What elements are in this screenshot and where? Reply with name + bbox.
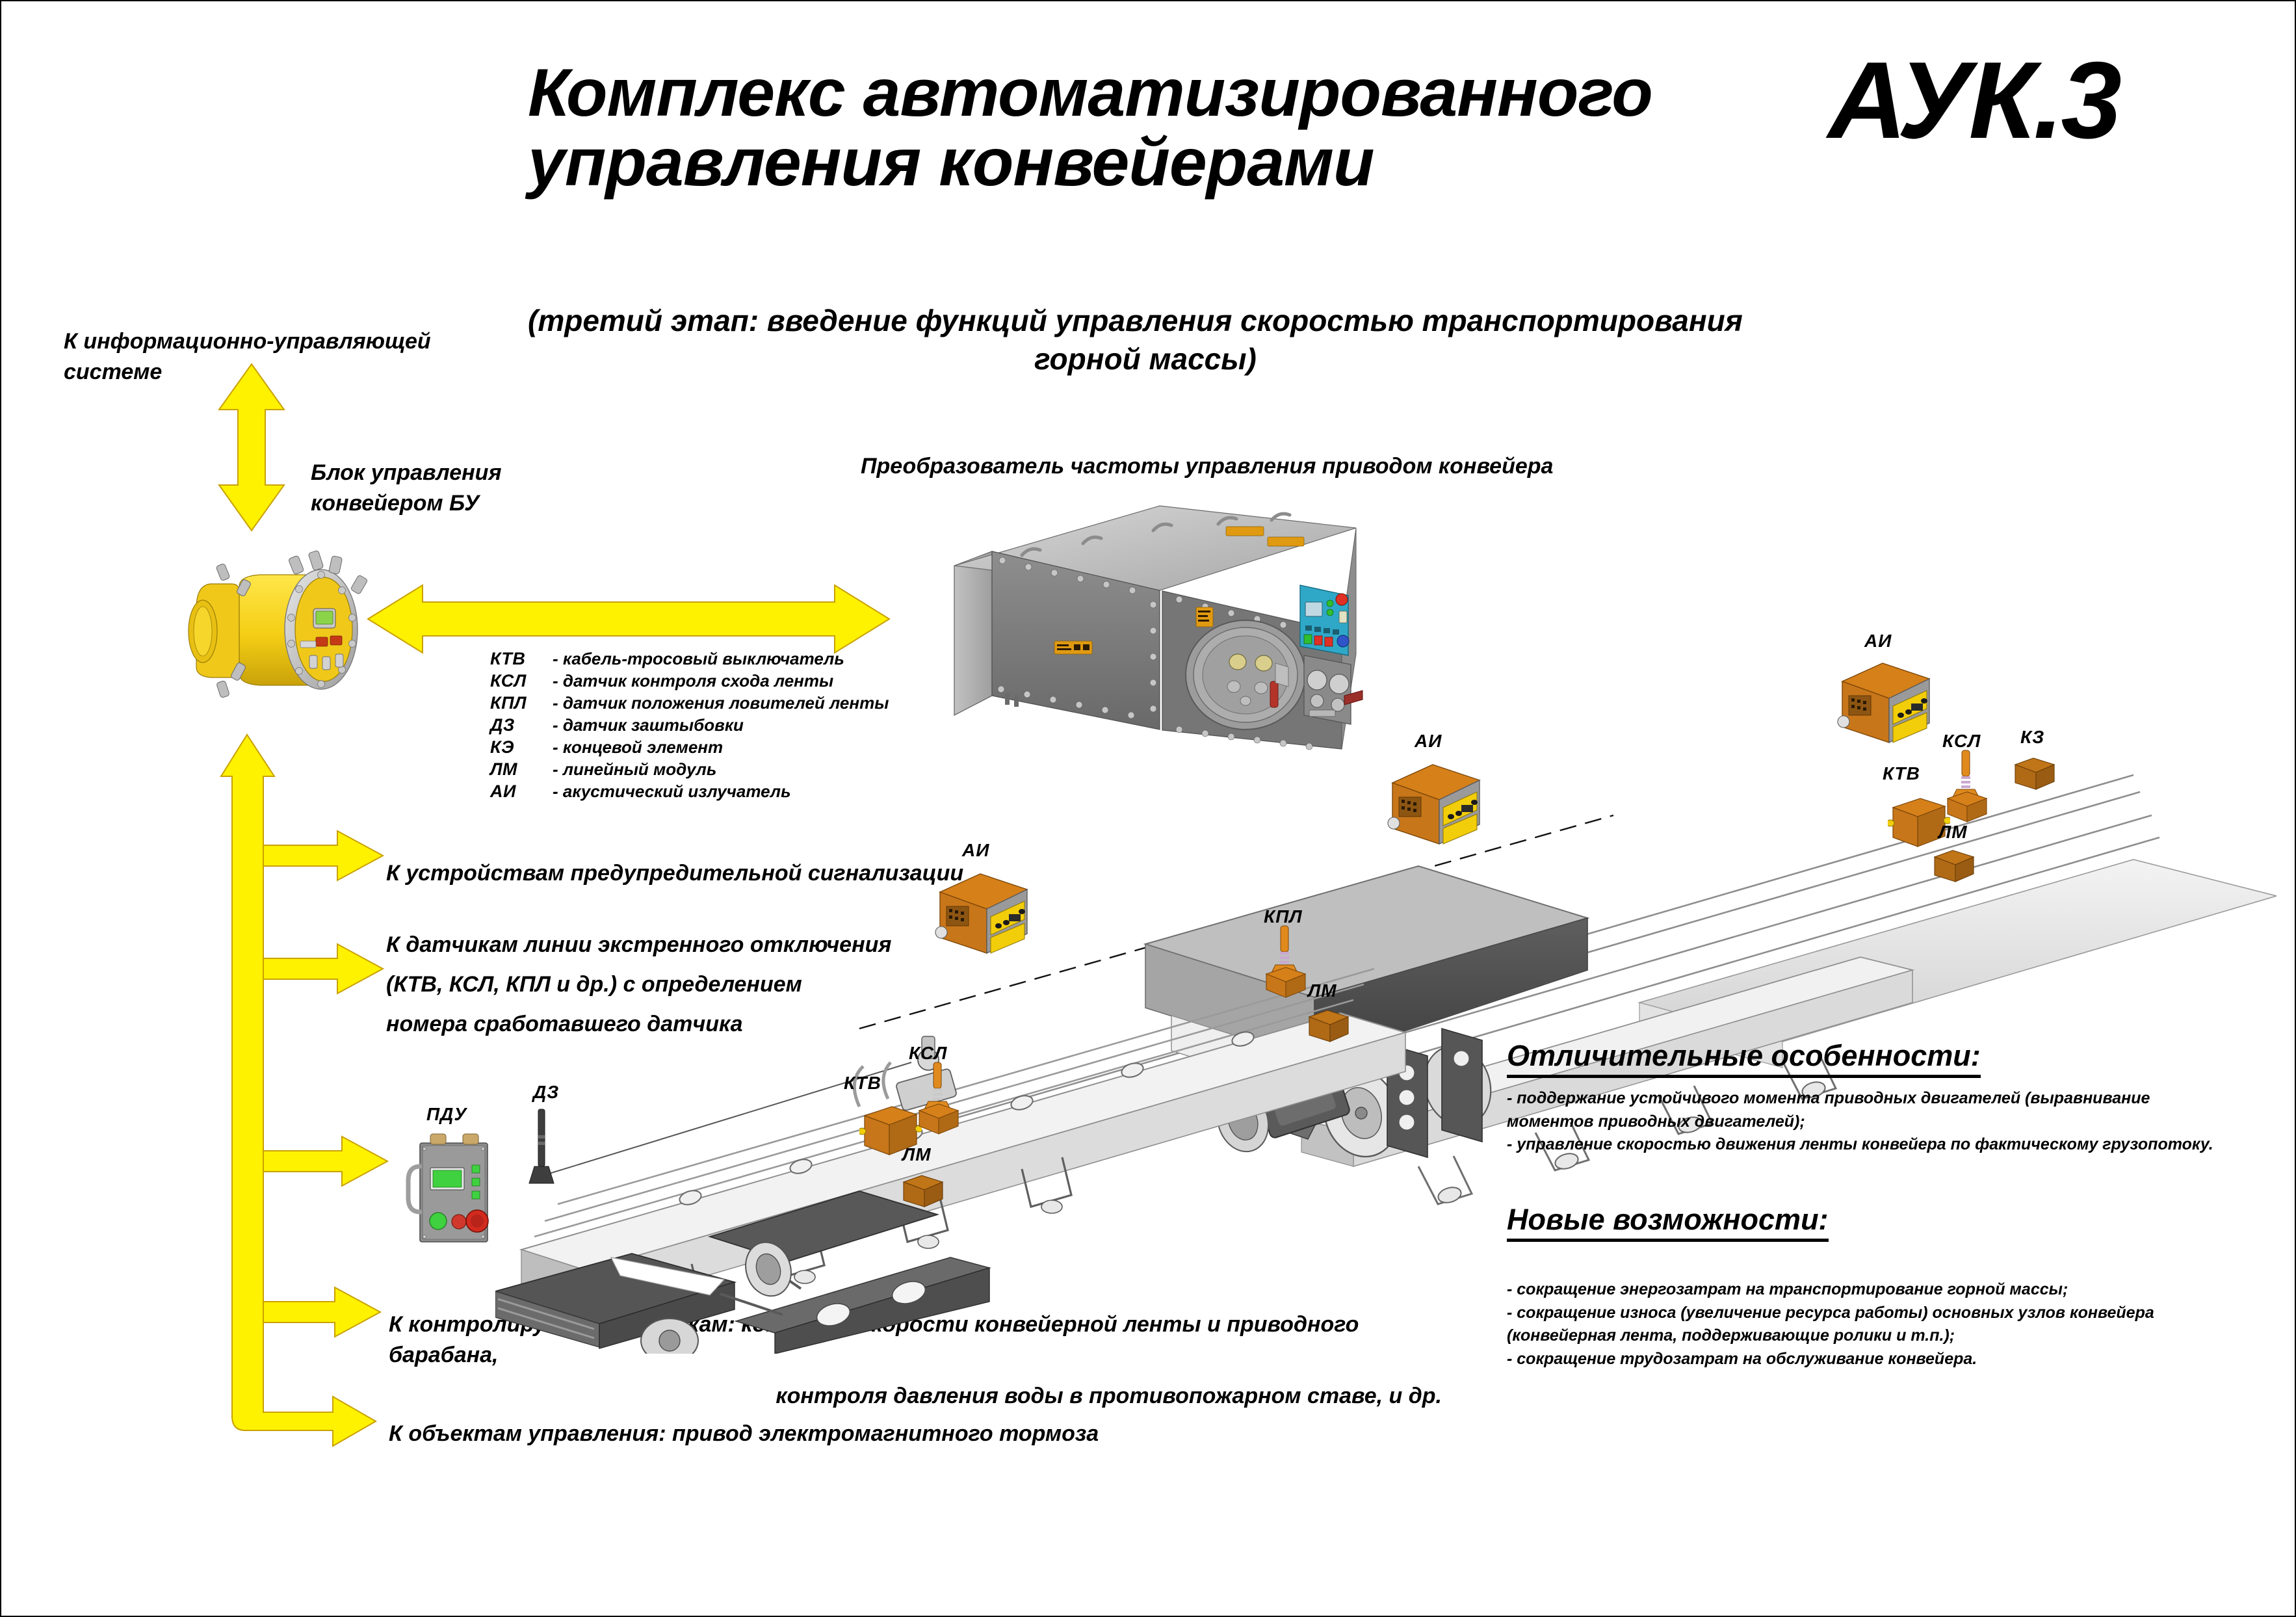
- features-item: - поддержание устойчивого момента привод…: [1507, 1087, 2213, 1111]
- acoustic-emitter-device-3: [1833, 655, 1937, 753]
- new-capabilities-panel: Новые возможности: - сокращение энергоза…: [1507, 1203, 2154, 1371]
- features-item: - управление скоростью движения ленты ко…: [1507, 1133, 2213, 1157]
- product-abbreviation: АУК.3: [1828, 46, 2283, 155]
- new-capabilities-heading: Новые возможности:: [1507, 1203, 1829, 1242]
- new-capabilities-item: (конвейерная лента, поддерживающие ролик…: [1507, 1324, 2154, 1348]
- kpl-belt-catcher-position-sensor: [1260, 925, 1312, 1003]
- device-label-lm-1: ЛМ: [902, 1144, 932, 1165]
- device-label-lm-3: ЛМ: [1938, 822, 1968, 843]
- callout-frequency-converter: Преобразователь частоты управления приво…: [861, 451, 1553, 482]
- ksl-belt-misalignment-sensor-2: [1941, 749, 1993, 827]
- pdu-remote-control-device: [403, 1129, 499, 1254]
- callout-branch-monitored-sensors-line2: контроля давления воды в противопожарном…: [389, 1381, 1442, 1412]
- page-subtitle: (третий этап: введение функций управлени…: [528, 302, 1763, 378]
- acoustic-emitter-device-1: [931, 866, 1035, 964]
- features-panel: Отличительные особенности: - поддержание…: [1507, 1039, 2213, 1157]
- new-capabilities-item: - сокращение энергозатрат на транспортир…: [1507, 1278, 2154, 1302]
- device-label-pdu: ПДУ: [426, 1104, 467, 1125]
- features-item: моментов приводных двигателей);: [1507, 1111, 2213, 1134]
- callout-control-block-line2: конвейером БУ: [311, 488, 584, 519]
- control-block-bu-device: [163, 546, 387, 720]
- lm-line-module-device-3: [1931, 847, 1977, 887]
- new-capabilities-item: - сокращение трудозатрат на обслуживание…: [1507, 1348, 2154, 1371]
- page-title-line2: управления конвейерами: [528, 128, 1847, 198]
- poster-canvas: Комплекс автоматизированного управления …: [0, 0, 2296, 1617]
- page-title: Комплекс автоматизированного управления …: [528, 59, 1847, 198]
- page-subtitle-line1: (третий этап: введение функций управлени…: [528, 302, 1763, 340]
- callout-control-block: Блок управления конвейером БУ: [311, 458, 584, 519]
- dz-blockage-sensor-device: [525, 1107, 558, 1191]
- features-heading: Отличительные особенности:: [1507, 1039, 1981, 1078]
- lm-line-module-device-2: [1305, 1006, 1352, 1047]
- acoustic-emitter-device-2: [1383, 757, 1487, 854]
- device-label-ai-3: АИ: [1864, 631, 1892, 651]
- device-label-dz: ДЗ: [533, 1082, 559, 1103]
- device-label-ktv-1: КТВ: [844, 1073, 881, 1094]
- device-label-ai-1: АИ: [962, 840, 989, 861]
- callout-control-block-line1: Блок управления: [311, 458, 584, 488]
- device-label-lm-2: ЛМ: [1308, 980, 1337, 1001]
- device-label-kz: КЗ: [2020, 727, 2044, 748]
- ksl-belt-misalignment-sensor-1: [913, 1061, 965, 1139]
- kz-end-element-device: [2011, 754, 2058, 795]
- new-capabilities-item: - сокращение износа (увеличение ресурса …: [1507, 1302, 2154, 1325]
- device-label-ktv-2: КТВ: [1883, 763, 1920, 784]
- arrow-bu-to-frequency-converter: [365, 580, 892, 658]
- page-title-line1: Комплекс автоматизированного: [528, 59, 1847, 128]
- arrow-to-information-system: [216, 363, 287, 532]
- callout-branch-control-objects: К объектам управления: привод электромаг…: [389, 1419, 1099, 1449]
- page-subtitle-line2: горной массы): [528, 340, 1763, 378]
- callout-to-information-system-line1: К информационно-управляющей: [64, 326, 467, 357]
- device-label-ai-2: АИ: [1415, 731, 1442, 752]
- lm-line-module-device-1: [900, 1172, 946, 1212]
